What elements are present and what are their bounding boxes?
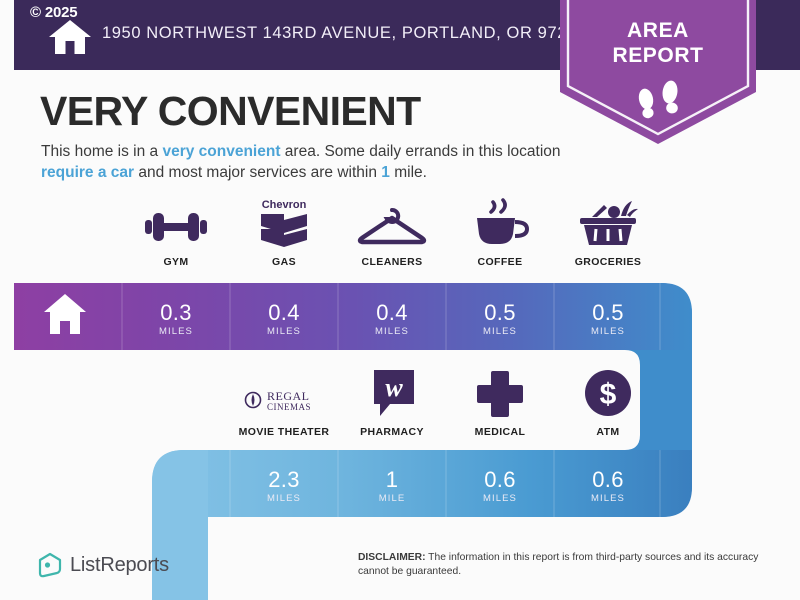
listreports-logo[interactable]: ListReports xyxy=(38,552,169,578)
medical-cross-icon xyxy=(476,370,524,418)
amenity-cleaners[interactable]: CLEANERS xyxy=(338,200,446,268)
amenity-label: ATM xyxy=(596,426,619,438)
distance-unit: MILES xyxy=(446,493,554,504)
amenity-icons-row-2: REGAL CINEMAS MOVIE THEATER w PHARMACY xyxy=(0,370,800,438)
desc-part-4: mile. xyxy=(390,164,427,181)
description-text: This home is in a very convenient area. … xyxy=(41,141,571,183)
coffee-cup-icon xyxy=(467,200,533,248)
amenity-pharmacy[interactable]: w PHARMACY xyxy=(338,370,446,438)
badge-line-2: REPORT xyxy=(560,43,756,68)
desc-highlight-convenient: very convenient xyxy=(162,143,280,160)
distance-unit: MILES xyxy=(122,326,230,337)
distance-cell-groceries: 0.5 MILES xyxy=(554,301,662,337)
desc-part-3: and most major services are within xyxy=(134,164,381,181)
badge-text: AREA REPORT xyxy=(560,18,756,68)
distance-cell-coffee: 0.5 MILES xyxy=(446,301,554,337)
amenity-gas[interactable]: Chevron GAS xyxy=(230,200,338,268)
amenity-label: MEDICAL xyxy=(475,426,526,438)
amenity-label: GAS xyxy=(272,256,296,268)
amenity-groceries[interactable]: GROCERIES xyxy=(554,200,662,268)
amenity-movie-theater[interactable]: REGAL CINEMAS MOVIE THEATER xyxy=(230,370,338,438)
amenity-gym[interactable]: GYM xyxy=(122,200,230,268)
distance-cell-pharmacy: 1 MILE xyxy=(338,468,446,504)
amenity-medical[interactable]: MEDICAL xyxy=(446,370,554,438)
svg-text:$: $ xyxy=(600,378,617,411)
distance-value: 0.4 xyxy=(338,301,446,325)
distance-value: 0.5 xyxy=(554,301,662,325)
desc-part-2: area. Some daily errands in this locatio… xyxy=(281,143,561,160)
chevron-gas-logo-icon: Chevron xyxy=(253,200,315,248)
amenity-label: CLEANERS xyxy=(362,256,423,268)
disclaimer: DISCLAIMER: The information in this repo… xyxy=(358,551,778,579)
distance-value: 0.6 xyxy=(554,468,662,492)
distance-unit: MILES xyxy=(554,493,662,504)
distance-unit: MILES xyxy=(230,326,338,337)
svg-text:w: w xyxy=(385,373,403,402)
distance-unit: MILES xyxy=(446,326,554,337)
property-address: 1950 NORTHWEST 143RD AVENUE, PORTLAND, O… xyxy=(102,24,587,43)
amenity-label: PHARMACY xyxy=(360,426,424,438)
distance-cell-cleaners: 0.4 MILES xyxy=(338,301,446,337)
distance-value: 2.3 xyxy=(230,468,338,492)
svg-text:CINEMAS: CINEMAS xyxy=(267,402,311,412)
amenity-icons-row-1: GYM Chevron GAS CLEANERS xyxy=(0,200,800,268)
badge-line-1: AREA xyxy=(560,18,756,43)
svg-text:Chevron: Chevron xyxy=(262,199,307,211)
distance-unit: MILES xyxy=(554,326,662,337)
distance-value: 0.5 xyxy=(446,301,554,325)
home-icon xyxy=(48,18,92,56)
distance-cell-atm: 0.6 MILES xyxy=(554,468,662,504)
page-title: VERY CONVENIENT xyxy=(40,88,421,135)
distance-cell-movie-theater: 2.3 MILES xyxy=(230,468,338,504)
atm-dollar-icon: $ xyxy=(583,370,633,418)
distance-unit: MILES xyxy=(230,493,338,504)
desc-highlight-require-car: require a car xyxy=(41,164,134,181)
distance-value: 0.6 xyxy=(446,468,554,492)
disclaimer-label: DISCLAIMER: xyxy=(358,552,426,563)
grocery-basket-icon xyxy=(574,200,642,248)
listreports-wordmark: ListReports xyxy=(70,554,169,577)
amenity-atm[interactable]: $ ATM xyxy=(554,370,662,438)
area-report-badge: AREA REPORT xyxy=(560,0,756,144)
distance-cell-gas: 0.4 MILES xyxy=(230,301,338,337)
dumbbell-icon xyxy=(141,200,211,248)
distance-unit: MILE xyxy=(338,493,446,504)
distance-cell-medical: 0.6 MILES xyxy=(446,468,554,504)
walgreens-w-logo-icon: w xyxy=(366,370,418,418)
amenity-label: COFFEE xyxy=(478,256,523,268)
regal-cinemas-logo-icon: REGAL CINEMAS xyxy=(241,370,327,418)
amenity-label: GYM xyxy=(163,256,188,268)
desc-part-1: This home is in a xyxy=(41,143,162,160)
distance-value: 1 xyxy=(338,468,446,492)
distance-value: 0.3 xyxy=(122,301,230,325)
clothes-hanger-icon xyxy=(354,200,430,248)
area-report-page: © 2025 1950 NORTHWEST 143RD AVENUE, PORT… xyxy=(0,0,800,600)
distance-unit: MILES xyxy=(338,326,446,337)
amenity-label: MOVIE THEATER xyxy=(239,426,330,438)
svg-text:REGAL: REGAL xyxy=(267,389,310,403)
distance-value: 0.4 xyxy=(230,301,338,325)
distance-cell-gym: 0.3 MILES xyxy=(122,301,230,337)
desc-highlight-distance: 1 xyxy=(381,164,390,181)
amenity-label: GROCERIES xyxy=(575,256,642,268)
amenity-coffee[interactable]: COFFEE xyxy=(446,200,554,268)
listreports-logo-icon xyxy=(38,552,62,578)
